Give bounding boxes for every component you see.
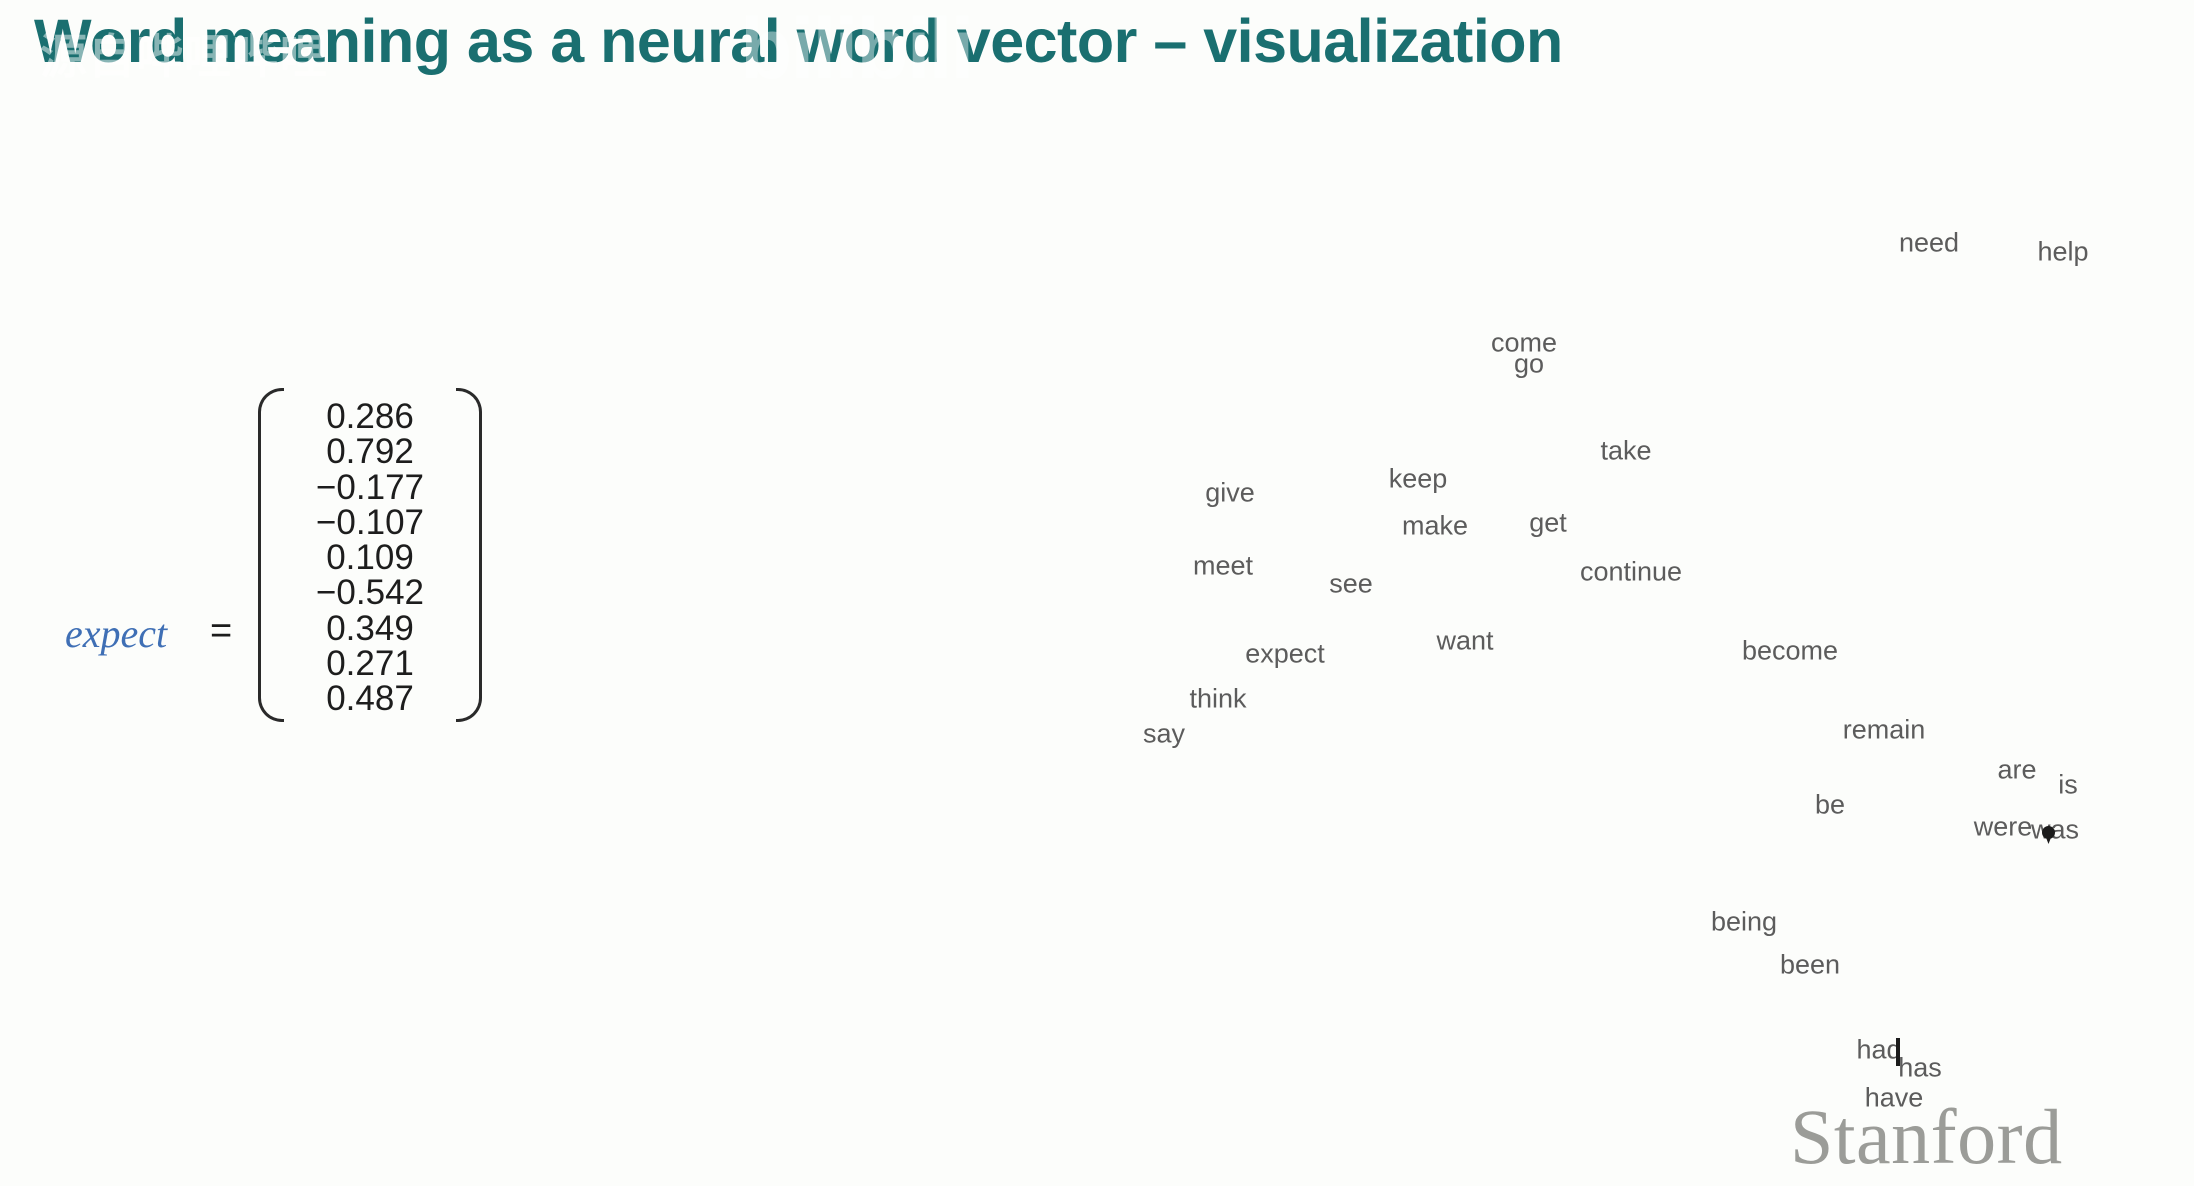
matrix-value: 0.792 [326,434,414,469]
matrix-value: −0.542 [316,575,424,610]
cursor-tail [2045,835,2052,844]
mouse-cursor-icon [2042,826,2055,843]
text-caret-icon [1896,1038,1900,1066]
scatter-word-help: help [2037,237,2088,268]
matrix-value: −0.107 [316,505,424,540]
page-title: Word meaning as a neural word vector – v… [34,6,1563,76]
matrix-value: 0.487 [326,681,414,716]
equation-equals-sign: = [210,610,232,653]
matrix-value: 0.271 [326,646,414,681]
matrix-value: 0.109 [326,540,414,575]
scatter-word-are: are [1997,755,2036,786]
stanford-logo: Stanford [1790,1092,2063,1182]
scatter-word-want: want [1436,626,1493,657]
matrix-value: 0.349 [326,611,414,646]
scatter-word-remain: remain [1843,715,1926,746]
scatter-word-say: say [1143,719,1185,750]
scatter-word-has: has [1898,1053,1942,1084]
scatter-word-take: take [1600,436,1651,467]
scatter-word-be: be [1815,790,1845,821]
scatter-word-being: being [1711,907,1777,938]
scatter-word-were: were [1974,812,2033,843]
equation-word-label: expect [65,610,167,657]
scatter-word-continue: continue [1580,557,1682,588]
scatter-word-been: been [1780,950,1840,981]
scatter-word-need: need [1899,228,1959,259]
scatter-word-see: see [1329,569,1373,600]
scatter-word-was: was [2031,815,2079,846]
scatter-word-expect: expect [1245,639,1325,670]
slide-canvas: Word meaning as a neural word vector – v… [0,0,2194,1186]
scatter-word-is: is [2058,770,2078,801]
matrix-value: 0.286 [326,399,414,434]
scatter-word-go: go [1514,349,1544,380]
scatter-word-make: make [1402,511,1468,542]
scatter-word-meet: meet [1193,551,1253,582]
scatter-word-keep: keep [1389,464,1448,495]
scatter-word-had: had [1856,1035,1901,1066]
scatter-word-get: get [1529,508,1567,539]
scatter-word-think: think [1189,684,1246,715]
matrix-values-column: 0.2860.792−0.177−0.1070.109−0.5420.3490.… [258,399,482,717]
word-vector-equation: expect = 0.2860.792−0.177−0.1070.109−0.5… [60,388,620,838]
vector-matrix: 0.2860.792−0.177−0.1070.109−0.5420.3490.… [258,388,482,722]
scatter-word-give: give [1205,478,1255,509]
scatter-word-become: become [1742,636,1838,667]
matrix-value: −0.177 [316,470,424,505]
